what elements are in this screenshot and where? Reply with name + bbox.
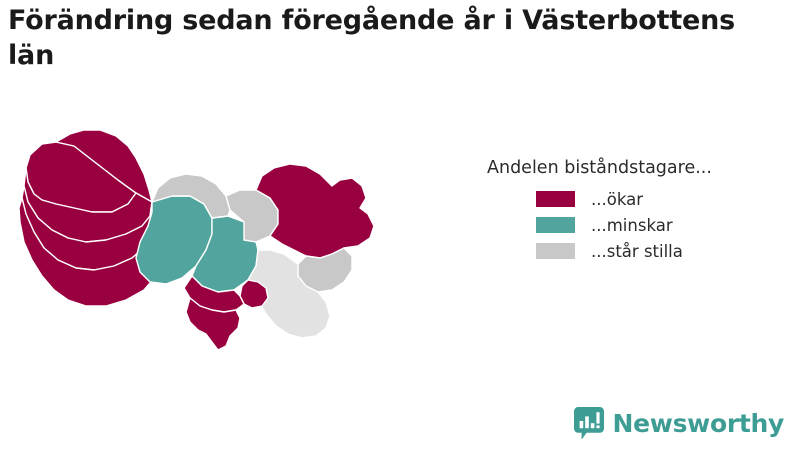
legend: Andelen biståndstagare... ...ökar ...min…: [487, 158, 777, 264]
legend-item-unchanged[interactable]: ...står stilla: [487, 238, 777, 264]
choropleth-map: [0, 120, 500, 370]
legend-label-decrease: ...minskar: [591, 216, 673, 235]
brand-logo: Newsworthy: [574, 407, 785, 440]
map-svg: [0, 120, 500, 370]
legend-swatch-increase: [536, 191, 575, 207]
bar-chart-bubble-icon: [574, 407, 604, 440]
legend-title: Andelen biståndstagare...: [487, 158, 777, 178]
legend-item-increase[interactable]: ...ökar: [487, 186, 777, 212]
legend-item-decrease[interactable]: ...minskar: [487, 212, 777, 238]
brand-name: Newsworthy: [613, 409, 785, 438]
legend-swatch-decrease: [536, 217, 575, 233]
legend-label-increase: ...ökar: [591, 190, 643, 209]
legend-label-unchanged: ...står stilla: [591, 242, 683, 261]
legend-swatch-unchanged: [536, 243, 575, 259]
page-title: Förändring sedan föregående år i Västerb…: [8, 4, 778, 73]
